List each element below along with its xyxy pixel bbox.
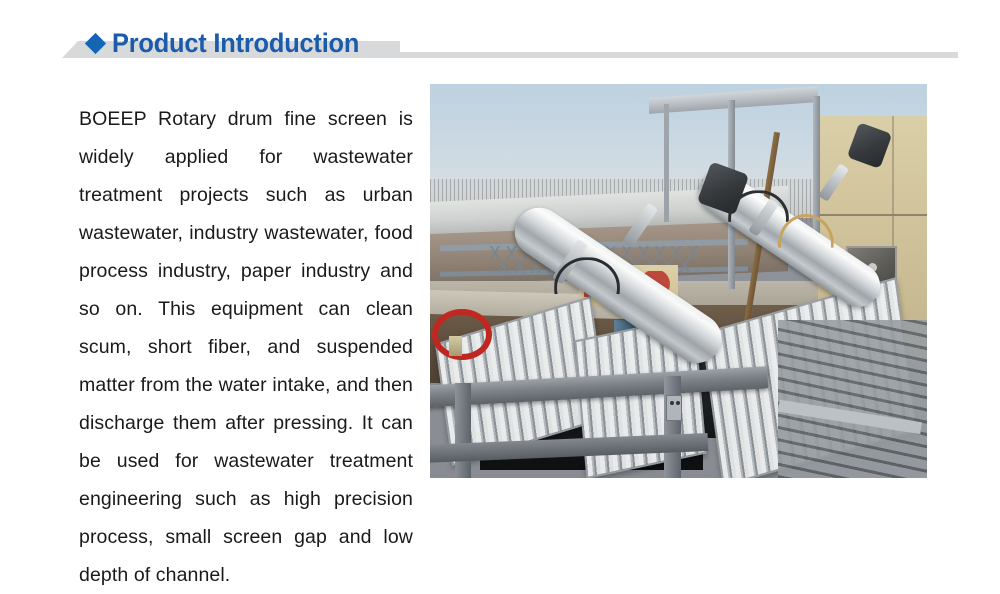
product-photo-scene xyxy=(430,84,927,478)
page-title: Product Introduction xyxy=(112,30,359,57)
product-photo xyxy=(430,84,927,478)
product-description: BOEEP Rotary drum fine screen is widely … xyxy=(79,100,413,594)
diamond-bullet-icon xyxy=(85,32,106,53)
content-area: BOEEP Rotary drum fine screen is widely … xyxy=(0,72,1000,525)
photo-overlay xyxy=(430,84,927,478)
header-title-row: Product Introduction xyxy=(88,26,375,60)
section-header: Product Introduction xyxy=(0,0,1000,72)
